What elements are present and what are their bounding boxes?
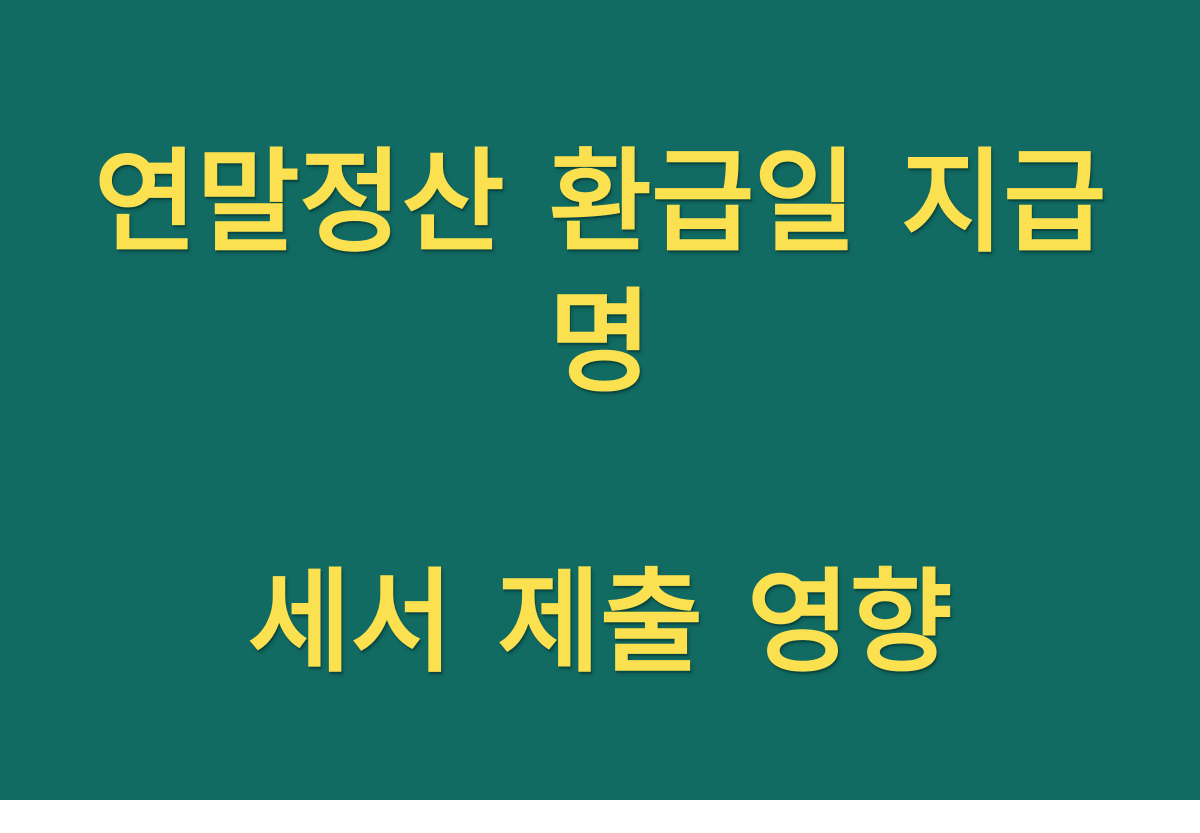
headline-line-1: 연말정산 환급일 지급명 — [70, 133, 1130, 413]
page-title: 연말정산 환급일 지급명 세서 제출 영향 — [70, 0, 1130, 833]
headline-line-2: 세서 제출 영향 — [70, 553, 1130, 693]
banner-canvas: 연말정산 환급일 지급명 세서 제출 영향 — [0, 0, 1200, 800]
